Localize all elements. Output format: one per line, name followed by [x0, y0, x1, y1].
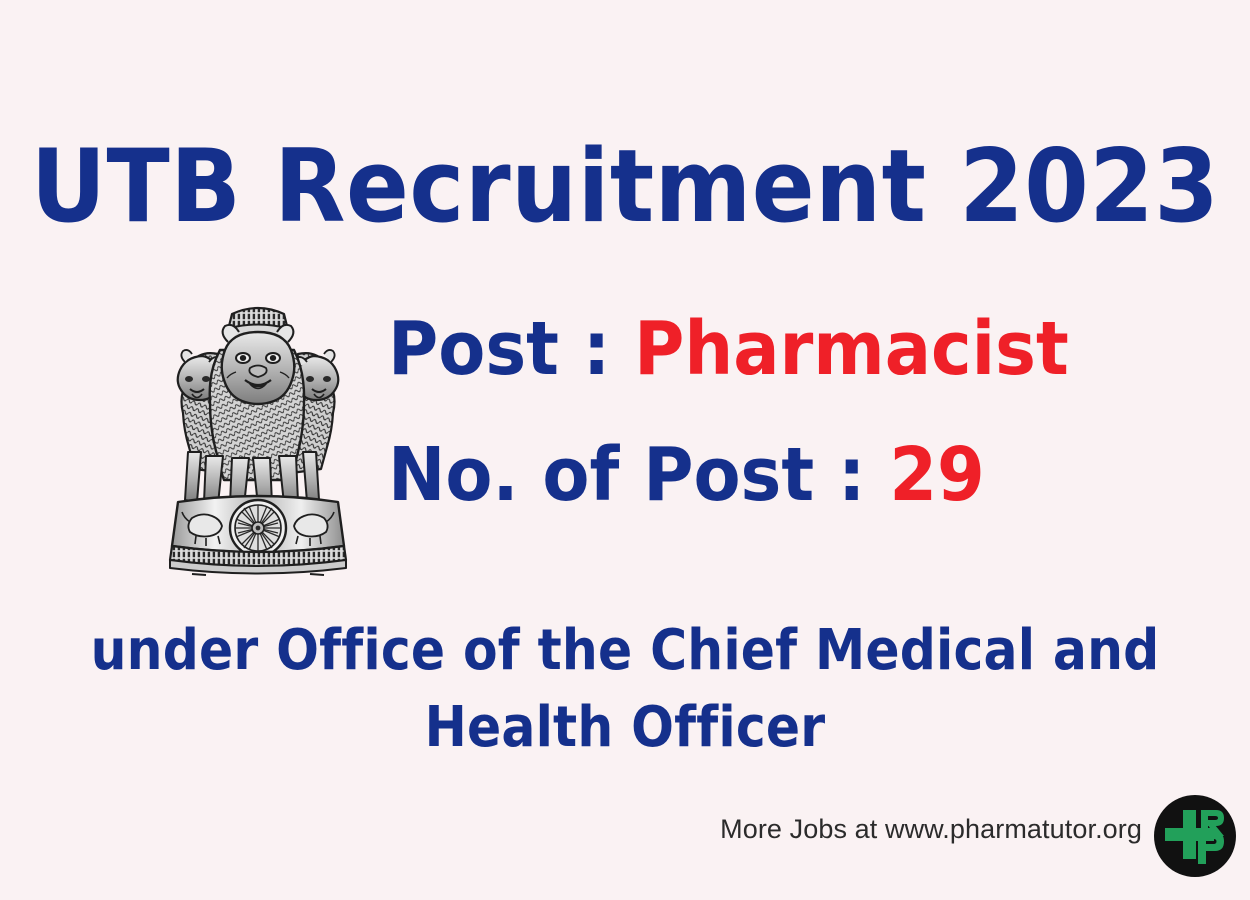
- description-line-2: Health Officer: [0, 689, 1250, 766]
- post-value: Pharmacist: [634, 306, 1069, 392]
- footer: More Jobs at www.pharmatutor.org: [0, 788, 1250, 874]
- description-line-1: under Office of the Chief Medical and: [0, 612, 1250, 689]
- description: under Office of the Chief Medical and He…: [0, 612, 1250, 767]
- vacancies-label: No. of Post :: [388, 432, 889, 518]
- pharmatutor-logo-icon: [1153, 794, 1237, 878]
- vacancies-value: 29: [889, 432, 984, 518]
- indian-state-emblem-icon: [162, 292, 354, 582]
- post-line: Post : Pharmacist: [388, 312, 1171, 386]
- post-details: Post : Pharmacist No. of Post : 29: [388, 312, 1148, 512]
- poster-canvas: UTB Recruitment 2023: [0, 0, 1250, 900]
- middle-section: Post : Pharmacist No. of Post : 29: [0, 288, 1250, 588]
- vacancies-line: No. of Post : 29: [388, 438, 1171, 512]
- page-title: UTB Recruitment 2023: [0, 136, 1250, 237]
- post-label: Post :: [388, 306, 634, 392]
- footer-credit-text: More Jobs at www.pharmatutor.org: [720, 814, 1142, 845]
